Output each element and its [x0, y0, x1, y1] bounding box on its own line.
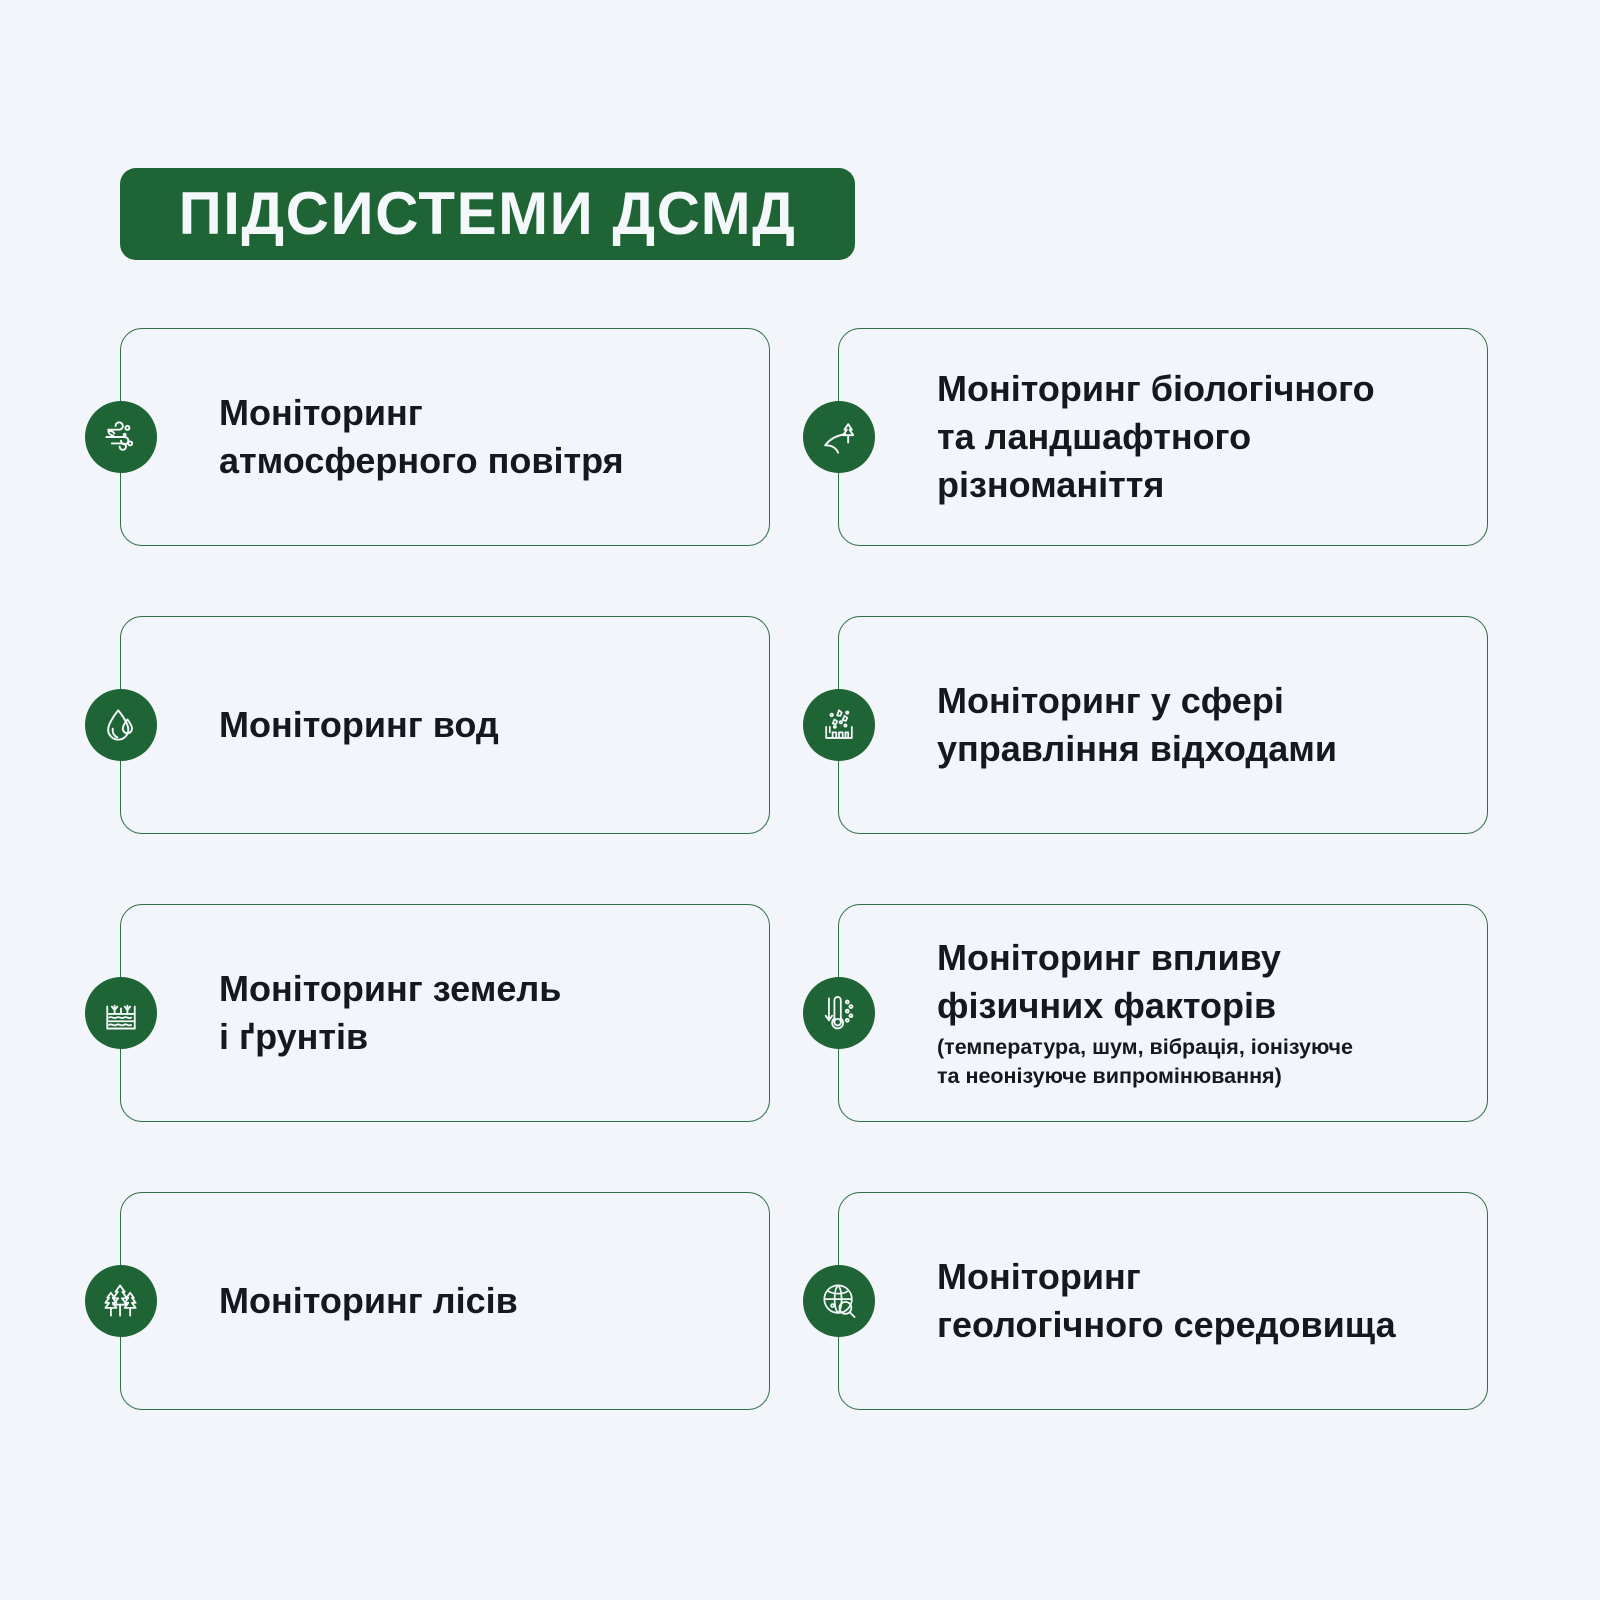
card-text: Моніторинг земель і ґрунтів [121, 965, 769, 1061]
card-row: Моніторинг лісів [0, 1192, 1600, 1480]
card-text: Моніторинг у сфері управління відходами [839, 677, 1487, 773]
card-title: Моніторинг лісів [219, 1277, 751, 1325]
subsystem-card-grid: Моніторинг атмосферного повітря Монітори… [0, 328, 1600, 1480]
infographic-canvas: ПІДСИСТЕМИ ДСМД Моніторин [0, 0, 1600, 1600]
thermometer-icon [803, 977, 875, 1049]
card-text: Моніторинг біологічного та ландшафтного … [839, 365, 1487, 509]
card-text: Моніторинг впливу фізичних факторів (тем… [839, 934, 1487, 1091]
subsystem-card-biodiversity[interactable]: Моніторинг біологічного та ландшафтного … [838, 328, 1488, 546]
landscape-tree-icon [803, 401, 875, 473]
page-title-badge: ПІДСИСТЕМИ ДСМД [120, 168, 855, 260]
subsystem-card-geology[interactable]: Моніторинг геологічного середовища [838, 1192, 1488, 1410]
globe-magnifier-icon [803, 1265, 875, 1337]
card-text: Моніторинг вод [121, 701, 769, 749]
page-title: ПІДСИСТЕМИ ДСМД [179, 184, 797, 244]
card-row: Моніторинг вод [0, 616, 1600, 904]
card-text: Моніторинг геологічного середовища [839, 1253, 1487, 1349]
subsystem-card-land-soil[interactable]: Моніторинг земель і ґрунтів [120, 904, 770, 1122]
card-row: Моніторинг земель і ґрунтів [0, 904, 1600, 1192]
card-title: Моніторинг земель і ґрунтів [219, 965, 751, 1061]
card-title: Моніторинг атмосферного повітря [219, 389, 751, 485]
card-title: Моніторинг біологічного та ландшафтного … [937, 365, 1469, 509]
air-wind-leaf-icon [85, 401, 157, 473]
card-text: Моніторинг атмосферного повітря [121, 389, 769, 485]
card-text: Моніторинг лісів [121, 1277, 769, 1325]
card-title: Моніторинг впливу фізичних факторів [937, 934, 1469, 1030]
card-title: Моніторинг вод [219, 701, 751, 749]
card-title: Моніторинг геологічного середовища [937, 1253, 1469, 1349]
card-row: Моніторинг атмосферного повітря Монітори… [0, 328, 1600, 616]
soil-layers-icon [85, 977, 157, 1049]
waste-container-icon [803, 689, 875, 761]
water-drop-icon [85, 689, 157, 761]
subsystem-card-physical-factors[interactable]: Моніторинг впливу фізичних факторів (тем… [838, 904, 1488, 1122]
subsystem-card-waste[interactable]: Моніторинг у сфері управління відходами [838, 616, 1488, 834]
card-subtitle: (температура, шум, вібрація, іонізуюче т… [937, 1033, 1469, 1091]
forest-trees-icon [85, 1265, 157, 1337]
subsystem-card-air[interactable]: Моніторинг атмосферного повітря [120, 328, 770, 546]
card-title: Моніторинг у сфері управління відходами [937, 677, 1469, 773]
subsystem-card-forests[interactable]: Моніторинг лісів [120, 1192, 770, 1410]
subsystem-card-water[interactable]: Моніторинг вод [120, 616, 770, 834]
